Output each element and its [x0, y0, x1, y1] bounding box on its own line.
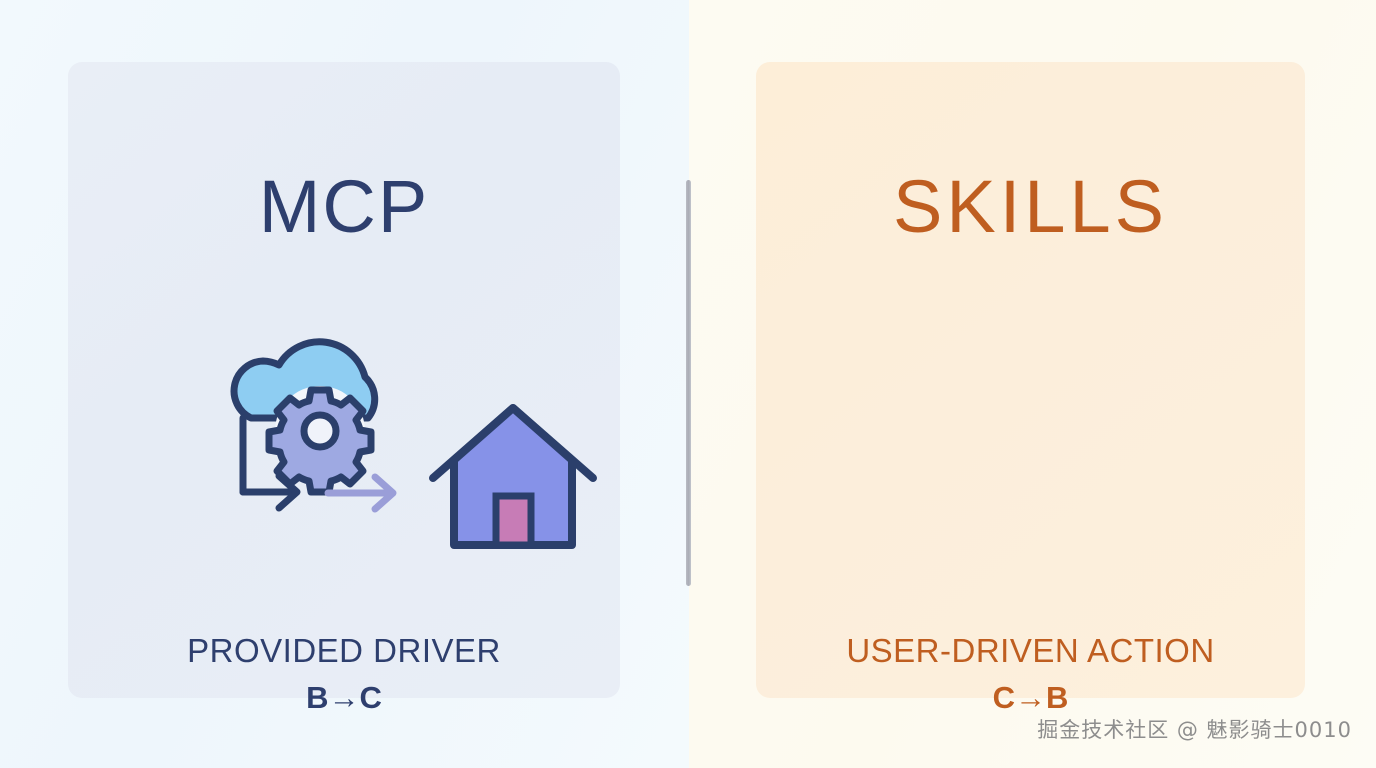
- vertical-divider: [686, 180, 691, 586]
- panel-skills: SKILLS: [756, 62, 1305, 698]
- caption-mcp: PROVIDED DRIVER B→C: [68, 632, 620, 716]
- house-icon: [433, 408, 593, 545]
- panel-title-mcp: MCP: [68, 170, 620, 244]
- caption-primary-skills: USER-DRIVEN ACTION: [756, 632, 1305, 670]
- panel-title-skills: SKILLS: [756, 170, 1305, 244]
- house-door-icon: [496, 496, 531, 545]
- panel-mcp: MCP: [68, 62, 620, 698]
- caption-skills: USER-DRIVEN ACTION C→B: [756, 632, 1305, 716]
- caption-secondary-mcp: B→C: [68, 680, 620, 716]
- elbow-arrow-icon: [243, 476, 297, 508]
- watermark-text: 掘金技术社区 @ 魅影骑士0010: [1037, 714, 1352, 744]
- caption-primary-mcp: PROVIDED DRIVER: [68, 632, 620, 670]
- illustration-cloud-gear-house: [213, 310, 613, 575]
- caption-secondary-skills: C→B: [756, 680, 1305, 716]
- comparison-graphic: MCP: [0, 0, 1376, 768]
